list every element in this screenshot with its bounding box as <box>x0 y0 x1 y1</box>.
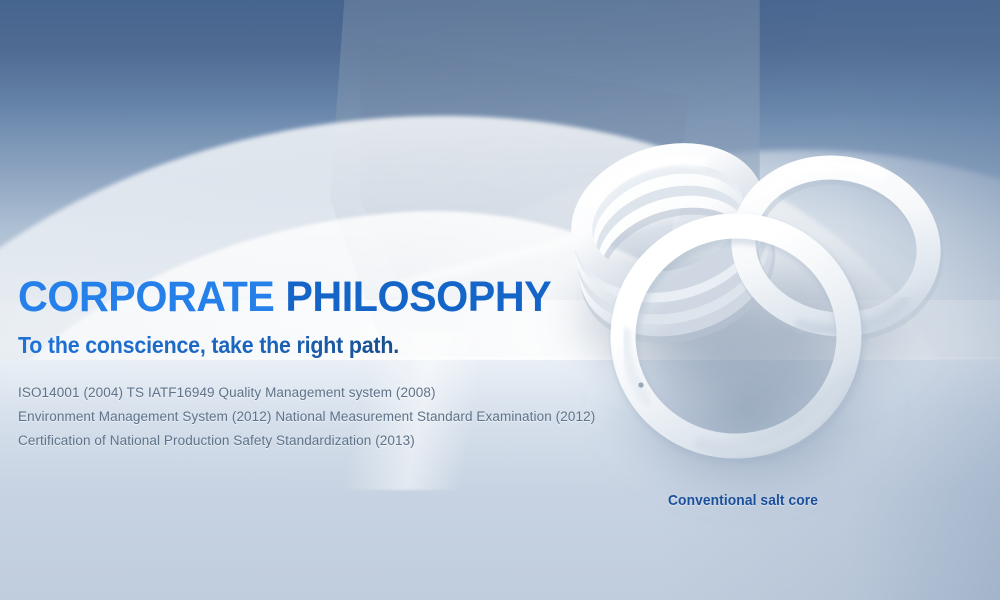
banner-copy-block: CORPORATE PHILOSOPHY To the conscience, … <box>18 272 638 453</box>
headline-word-philosophy: PHILOSOPHY <box>285 273 551 321</box>
page-subtitle: To the conscience, take the right path. <box>18 332 595 359</box>
certification-line-2: Environment Management System (2012) Nat… <box>18 405 638 429</box>
certification-list: ISO14001 (2004) TS IATF16949 Quality Man… <box>18 381 638 453</box>
certification-line-3: Certification of National Production Saf… <box>18 429 638 453</box>
corporate-philosophy-banner: CORPORATE PHILOSOPHY To the conscience, … <box>0 0 1000 600</box>
product-caption: Conventional salt core <box>668 492 818 509</box>
certification-line-1: ISO14001 (2004) TS IATF16949 Quality Man… <box>18 381 638 405</box>
page-title: CORPORATE PHILOSOPHY <box>18 272 613 322</box>
ring-front-vent-hole <box>638 382 643 387</box>
headline-word-corporate: CORPORATE <box>18 273 274 321</box>
